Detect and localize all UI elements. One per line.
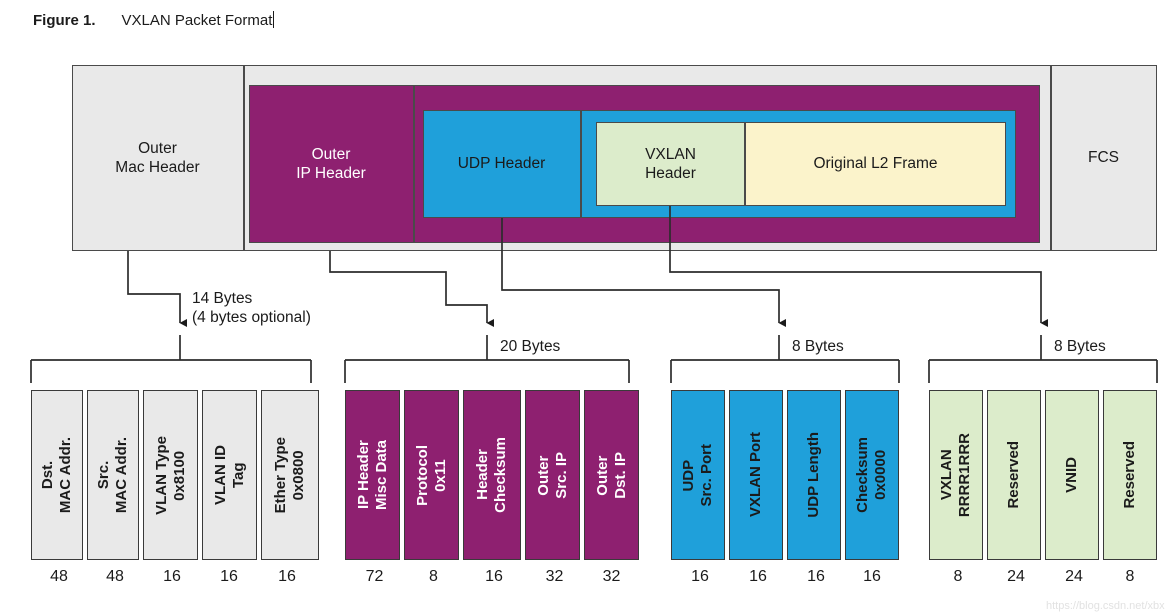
vxlan-header-label: VXLAN Header	[645, 145, 696, 184]
ip-field-cell: IP Header Misc Data	[345, 390, 400, 560]
ip-bit-width: 72	[345, 568, 404, 586]
ip-field-cell: Outer Dst. IP	[584, 390, 639, 560]
udp-bit-width: 16	[845, 568, 899, 586]
udp-field-cell: VXLAN Port	[729, 390, 783, 560]
udp-header-label: UDP Header	[458, 154, 546, 173]
mac-bit-width: 48	[31, 568, 87, 586]
vxlan-bit-width: 8	[1103, 568, 1157, 586]
mac-field-label: VLAN Type 0x8100	[153, 436, 189, 515]
ip-field-label: IP Header Misc Data	[355, 440, 391, 510]
ip-field-label: Outer Src. IP	[535, 452, 571, 499]
vxlan-field-cell: Reserved	[987, 390, 1041, 560]
udp-field-cell: UDP Src. Port	[671, 390, 725, 560]
mac-bit-width: 16	[143, 568, 201, 586]
ip-bit-width: 32	[584, 568, 639, 586]
udp-bit-width: 16	[671, 568, 729, 586]
outer-ip-header-cell: Outer IP Header	[249, 85, 413, 243]
udp-field-label: Checksum 0x0000	[854, 437, 890, 513]
outer-ip-header-label: Outer IP Header	[296, 145, 366, 184]
mac-bytes-annotation: 14 Bytes (4 bytes optional)	[192, 289, 311, 328]
divider-after-mac-header	[243, 65, 245, 251]
mac-field-cell: Ether Type 0x0800	[261, 390, 319, 560]
vxlan-field-cell: VXLAN RRRR1RRR	[929, 390, 983, 560]
vxlan-field-label: VXLAN RRRR1RRR	[938, 433, 974, 517]
vxlan-bit-width: 24	[1045, 568, 1103, 586]
vxlan-field-cell: Reserved	[1103, 390, 1157, 560]
fcs-cell: FCS	[1050, 65, 1157, 251]
mac-field-label: Dst. MAC Addr.	[39, 437, 75, 513]
vxlan-header-cell: VXLAN Header	[596, 122, 745, 206]
mac-field-label: Ether Type 0x0800	[272, 437, 308, 513]
mac-bit-width: 16	[201, 568, 257, 586]
vxlan-bits-row: 8 24 24 8	[929, 568, 1157, 586]
udp-field-row: UDP Src. Port VXLAN Port UDP Length Chec…	[671, 390, 899, 560]
divider-after-ip-header	[413, 85, 415, 243]
udp-header-cell: UDP Header	[423, 110, 580, 218]
ip-field-label: Outer Dst. IP	[594, 452, 630, 499]
udp-field-label: VXLAN Port	[747, 432, 765, 517]
udp-bytes-annotation: 8 Bytes	[792, 337, 844, 356]
ip-bit-width: 8	[404, 568, 463, 586]
text-cursor	[273, 11, 274, 28]
ip-field-cell: Header Checksum	[463, 390, 521, 560]
vxlan-field-row: VXLAN RRRR1RRR Reserved VNID Reserved	[929, 390, 1157, 560]
figure-label: Figure 1.	[33, 12, 96, 29]
ip-bytes-annotation: 20 Bytes	[500, 337, 560, 356]
vxlan-bit-width: 24	[987, 568, 1045, 586]
mac-field-label: Src. MAC Addr.	[95, 437, 131, 513]
vxlan-bytes-annotation: 8 Bytes	[1054, 337, 1106, 356]
vxlan-field-cell: VNID	[1045, 390, 1099, 560]
mac-field-cell: VLAN ID Tag	[202, 390, 257, 560]
ip-bits-row: 72 8 16 32 32	[345, 568, 639, 586]
ip-bit-width: 16	[463, 568, 525, 586]
udp-field-cell: UDP Length	[787, 390, 841, 560]
mac-field-cell: Dst. MAC Addr.	[31, 390, 83, 560]
divider-after-udp-header	[580, 110, 582, 218]
udp-field-label: UDP Length	[805, 432, 823, 518]
fcs-label: FCS	[1088, 148, 1119, 167]
original-l2-frame-label: Original L2 Frame	[813, 154, 937, 173]
ip-field-cell: Protocol 0x11	[404, 390, 459, 560]
ip-field-label: Protocol 0x11	[414, 445, 450, 506]
figure-caption: Figure 1. VXLAN Packet Format	[33, 8, 274, 29]
udp-field-cell: Checksum 0x0000	[845, 390, 899, 560]
mac-field-label: VLAN ID Tag	[212, 445, 248, 505]
figure-title: VXLAN Packet Format	[122, 12, 273, 29]
vxlan-field-label: VNID	[1063, 457, 1081, 493]
ip-bit-width: 32	[525, 568, 584, 586]
outer-mac-header-label: Outer Mac Header	[115, 139, 199, 178]
ip-field-label: Header Checksum	[474, 437, 510, 513]
udp-bit-width: 16	[729, 568, 787, 586]
mac-field-row: Dst. MAC Addr. Src. MAC Addr. VLAN Type …	[31, 390, 319, 560]
udp-bit-width: 16	[787, 568, 845, 586]
mac-field-cell: Src. MAC Addr.	[87, 390, 139, 560]
outer-mac-header-cell: Outer Mac Header	[72, 65, 243, 251]
vxlan-field-label: Reserved	[1121, 441, 1139, 509]
mac-bit-width: 16	[257, 568, 317, 586]
mac-bits-row: 48 48 16 16 16	[31, 568, 317, 586]
udp-field-label: UDP Src. Port	[680, 444, 716, 507]
original-l2-frame-cell: Original L2 Frame	[745, 122, 1006, 206]
ip-field-cell: Outer Src. IP	[525, 390, 580, 560]
udp-bits-row: 16 16 16 16	[671, 568, 899, 586]
watermark-text: https://blog.csdn.net/xbx	[1046, 600, 1165, 612]
mac-field-cell: VLAN Type 0x8100	[143, 390, 198, 560]
vxlan-bit-width: 8	[929, 568, 987, 586]
ip-field-row: IP Header Misc Data Protocol 0x11 Header…	[345, 390, 639, 560]
mac-bit-width: 48	[87, 568, 143, 586]
vxlan-field-label: Reserved	[1005, 441, 1023, 509]
